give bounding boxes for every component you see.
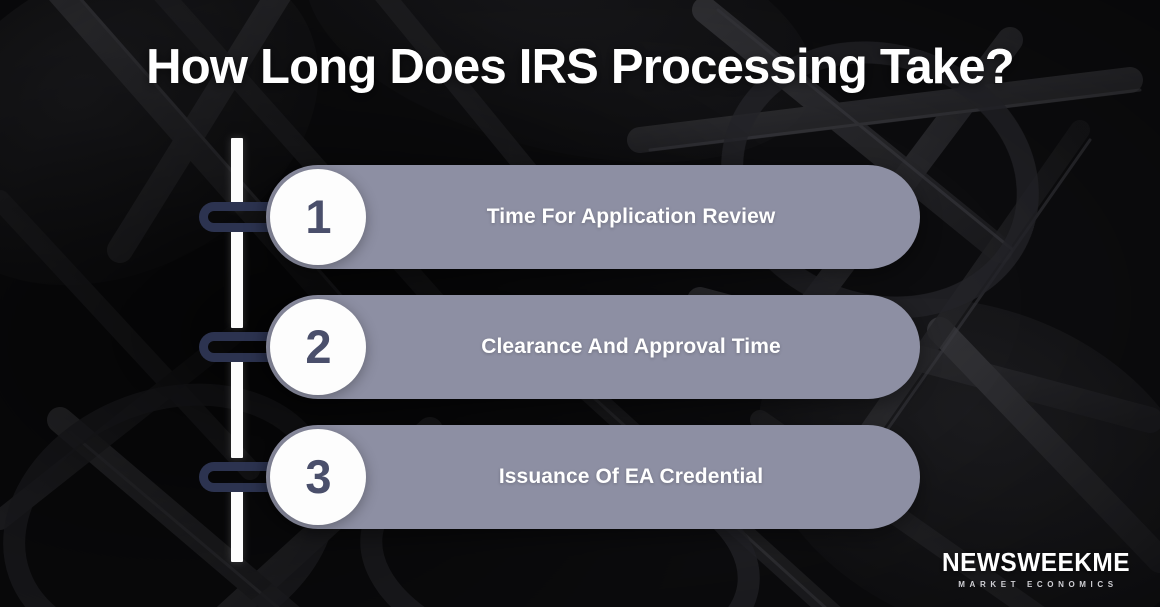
step-number-badge: 2 xyxy=(270,299,366,395)
step-number-badge: 1 xyxy=(270,169,366,265)
logo-tagline: MARKET ECONOMICS xyxy=(938,581,1138,589)
step-number: 1 xyxy=(305,193,330,240)
step-pill[interactable]: Issuance Of EA Credential 3 xyxy=(266,425,920,529)
step-pill[interactable]: Clearance And Approval Time 2 xyxy=(266,295,920,399)
step-label: Issuance Of EA Credential xyxy=(376,425,886,529)
brand-logo: NEWSWEEKME MARKET ECONOMICS xyxy=(936,549,1136,589)
logo-wordmark: NEWSWEEKME xyxy=(942,549,1130,575)
step-label: Clearance And Approval Time xyxy=(376,295,886,399)
step-number: 3 xyxy=(305,453,330,500)
step-pill[interactable]: Time For Application Review 1 xyxy=(266,165,920,269)
step-label: Time For Application Review xyxy=(376,165,886,269)
timeline-step-row: Time For Application Review 1 xyxy=(0,165,1160,269)
timeline-step-row: Issuance Of EA Credential 3 xyxy=(0,425,1160,529)
page-title: How Long Does IRS Processing Take? xyxy=(70,40,1090,95)
step-number: 2 xyxy=(305,323,330,370)
step-number-badge: 3 xyxy=(270,429,366,525)
timeline-step-row: Clearance And Approval Time 2 xyxy=(0,295,1160,399)
infographic-canvas: How Long Does IRS Processing Take? Time … xyxy=(0,0,1160,607)
